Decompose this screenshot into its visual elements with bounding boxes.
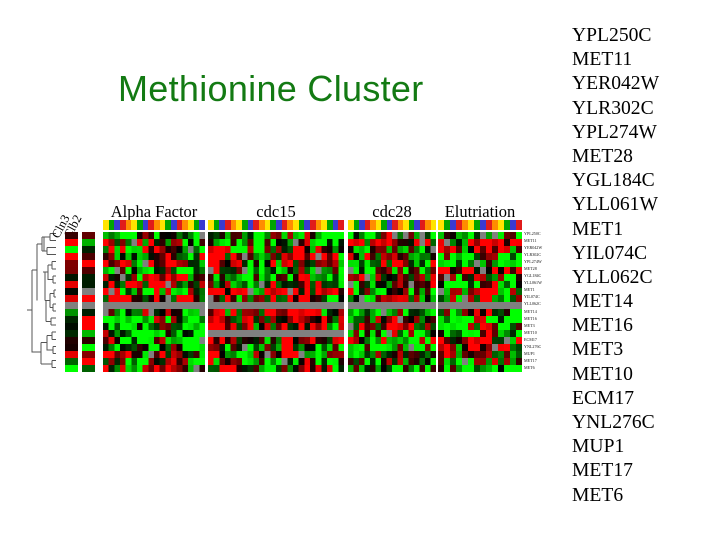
gene-name-item: YER042W [572,72,712,96]
heatmap-row-label: MET3 [524,322,564,329]
heatmap-row-label: MET6 [524,364,564,371]
heatmap-row-label: YNL276C [524,343,564,350]
gene-name-item: YLR302C [572,97,712,121]
heatmap-row-label: MET11 [524,237,564,244]
heatmap-row-label: YLR302C [524,251,564,258]
heatmap-row-label: YER042W [524,244,564,251]
gene-name-item: MET17 [572,459,712,483]
heatmap-row-labels: YPL250CMET11YER042WYLR302CYPL274WMET28YG… [524,230,564,374]
dendrogram [26,230,62,372]
colorbar-segment [199,220,205,230]
slide-canvas: Methionine Cluster YPL250CMET11YER042WYL… [0,0,720,540]
colorbar-cdc28 [348,220,436,230]
gene-name-item: YPL274W [572,121,712,145]
heatmap-row-label: MET28 [524,265,564,272]
heatmap-row-label: MET17 [524,357,564,364]
gene-name-item: YPL250C [572,24,712,48]
heatmap-row-label: MET10 [524,329,564,336]
colorbar-cdc15 [208,220,344,230]
colorbar-alpha-factor [103,220,205,230]
heatmap-row-label: ECM17 [524,336,564,343]
heatmap-canvas [208,232,344,372]
gene-name-list: YPL250CMET11YER042WYLR302CYPL274WMET28YG… [572,24,712,508]
heat-panel-elutriation [438,232,522,372]
heatmap-row-label: MET14 [524,308,564,315]
colorbar-segment [516,220,522,230]
heatmap-canvas [348,232,436,372]
gene-name-item: MET16 [572,314,712,338]
panel-title-elutriation: Elutriation [438,202,522,222]
heat-panel-cdc28 [348,232,436,372]
heatmap-row-label: MET16 [524,315,564,322]
heatmap-row-label: YGL184C [524,272,564,279]
colorbar-segment [338,220,344,230]
gene-name-item: YLL062C [572,266,712,290]
heatmap-row-label: YLL061W [524,279,564,286]
gene-name-item: MET6 [572,484,712,508]
gene-name-item: YNL276C [572,411,712,435]
panel-title-alpha-factor: Alpha Factor [103,202,205,222]
heatmap-row-label: YIL074C [524,293,564,300]
gene-name-item: ECM17 [572,387,712,411]
gene-name-item: MET10 [572,363,712,387]
heatmap-canvas [103,232,205,372]
gene-name-item: MET1 [572,218,712,242]
gene-name-item: MET14 [572,290,712,314]
heatmap-row-label: YPL250C [524,230,564,237]
gene-name-item: YIL074C [572,242,712,266]
gene-name-item: MET11 [572,48,712,72]
heatmap-row-label: MET1 [524,286,564,293]
heat-panel-clb2 [82,232,95,372]
gene-name-item: MET28 [572,145,712,169]
page-title: Methionine Cluster [118,68,518,110]
colorbar-segment [431,220,437,230]
heatmap-canvas [438,232,522,372]
gene-name-item: YLL061W [572,193,712,217]
colorbar-elutriation [438,220,522,230]
heatmap-row-label: YLL062C [524,300,564,307]
gene-name-item: YGL184C [572,169,712,193]
gene-name-item: MUP1 [572,435,712,459]
heat-panel-cdc15 [208,232,344,372]
panel-title-cdc15: cdc15 [208,202,344,222]
panel-title-cdc28: cdc28 [348,202,436,222]
heatmap-row-label: YPL274W [524,258,564,265]
heatmap-canvas [82,232,95,372]
heatmap-row-label: MUP1 [524,350,564,357]
heat-panel-cln3 [65,232,78,372]
heat-panel-alpha-factor [103,232,205,372]
gene-name-item: MET3 [572,338,712,362]
heatmap-figure: Cln3 Clb2 Alpha Factor cdc15 cdc28 Elutr… [26,186,531,378]
heatmap-canvas [65,232,78,372]
